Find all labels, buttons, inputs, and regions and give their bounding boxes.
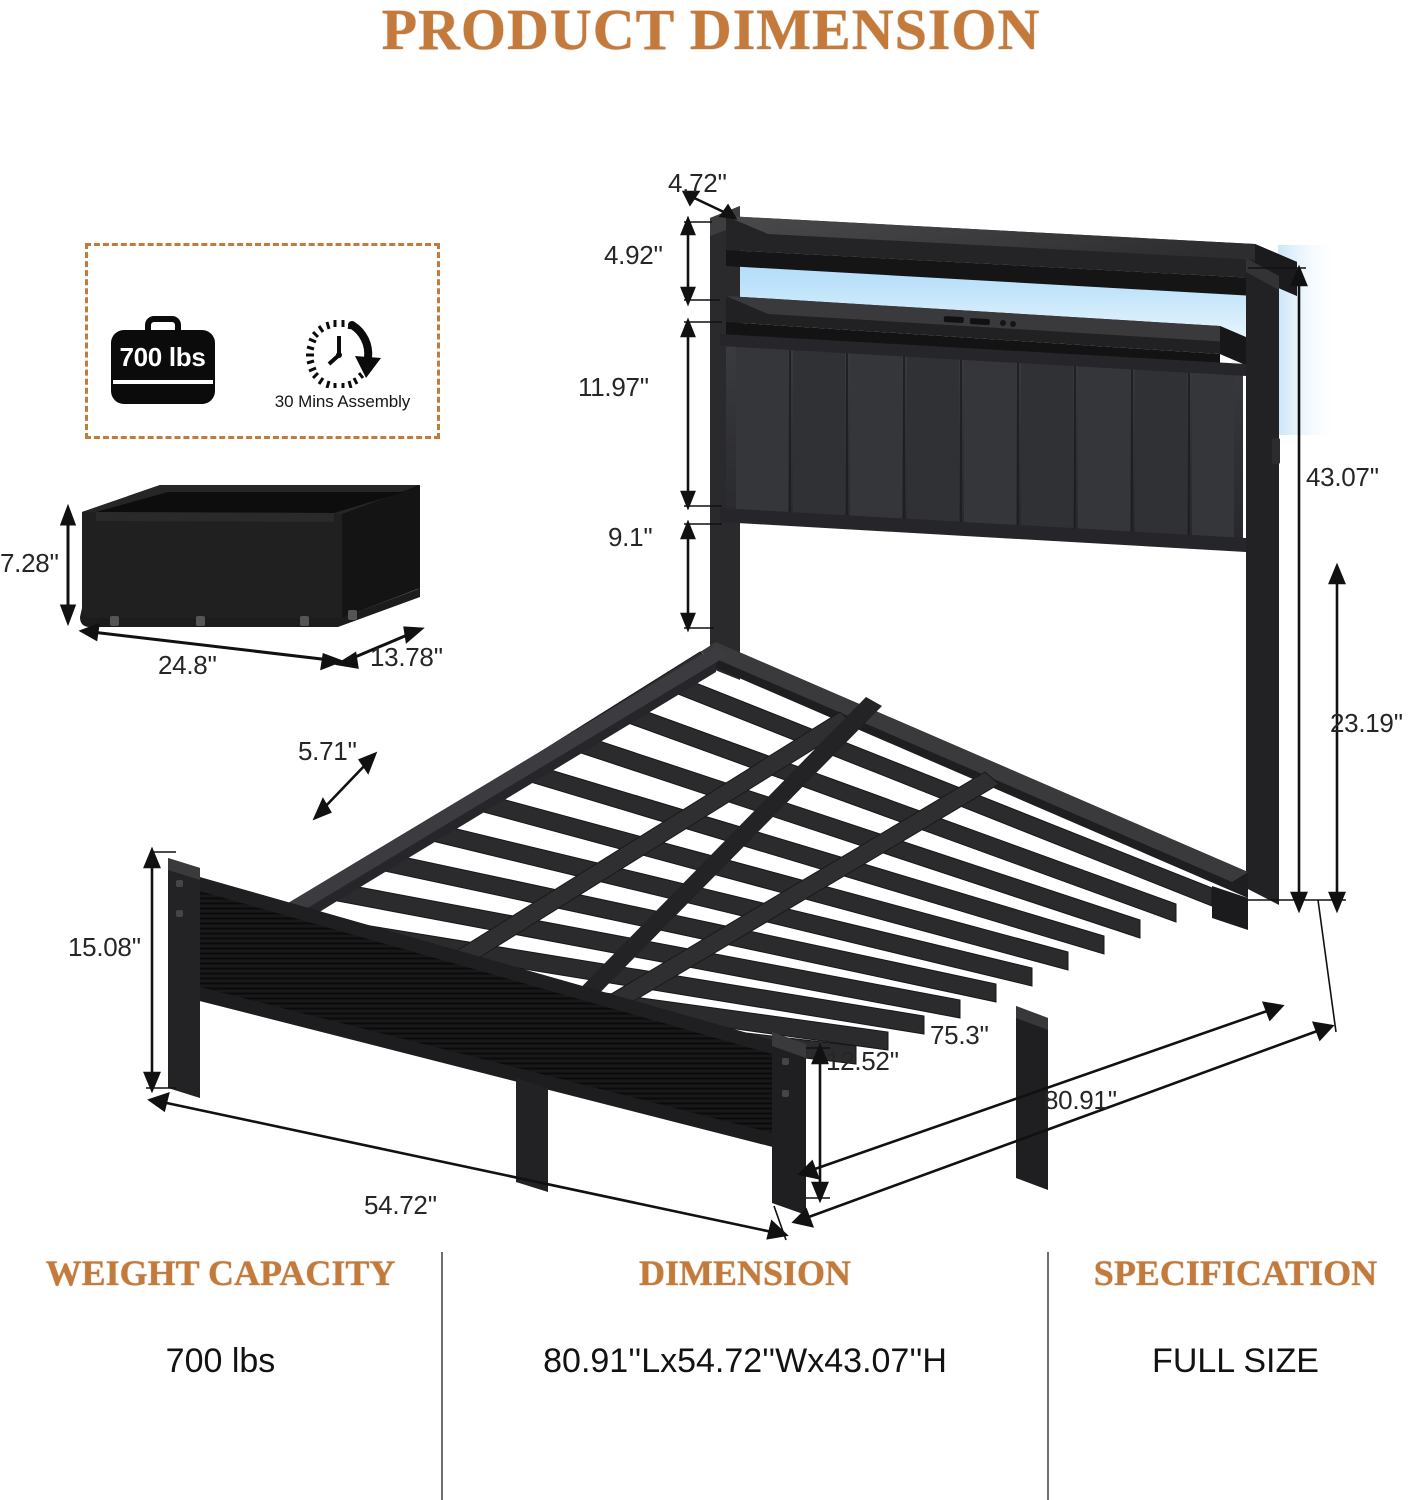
specification-heading: SPECIFICATION	[1049, 1252, 1422, 1294]
specification-value: FULL SIZE	[1049, 1342, 1422, 1381]
inner-length-label: 75.3''	[930, 1020, 989, 1051]
dimension-value: 80.91''Lx54.72''Wx43.07''H	[443, 1342, 1047, 1381]
shelf-depth-label: 4.72''	[668, 168, 727, 199]
dimension-heading: DIMENSION	[443, 1252, 1047, 1294]
side-post-height-label: 23.19''	[1330, 708, 1403, 739]
summary-column-weight-capacity: WEIGHT CAPACITY 700 lbs	[0, 1252, 441, 1381]
clearance-label: 12.52''	[826, 1046, 899, 1077]
summary-column-specification: SPECIFICATION FULL SIZE	[1049, 1252, 1422, 1381]
total-height-label: 43.07''	[1306, 462, 1379, 493]
headboard-post-label: 9.1''	[608, 522, 653, 553]
weight-capacity-value: 700 lbs	[0, 1342, 441, 1381]
dimension-labels-layer: 4.72'' 4.92'' 11.97'' 9.1'' 43.07'' 23.1…	[0, 0, 1422, 1270]
weight-capacity-heading: WEIGHT CAPACITY	[0, 1252, 441, 1294]
led-gap-label: 4.92''	[604, 240, 663, 271]
headboard-panel-label: 11.97''	[578, 372, 649, 403]
overall-width-label: 54.72''	[364, 1190, 437, 1221]
slat-spacing-label: 5.71''	[298, 736, 357, 767]
overall-length-label: 80.91''	[1044, 1085, 1117, 1116]
summary-column-dimension: DIMENSION 80.91''Lx54.72''Wx43.07''H	[443, 1252, 1047, 1381]
frame-height-label: 15.08''	[68, 932, 141, 963]
summary-bar: WEIGHT CAPACITY 700 lbs DIMENSION 80.91'…	[0, 1252, 1422, 1500]
